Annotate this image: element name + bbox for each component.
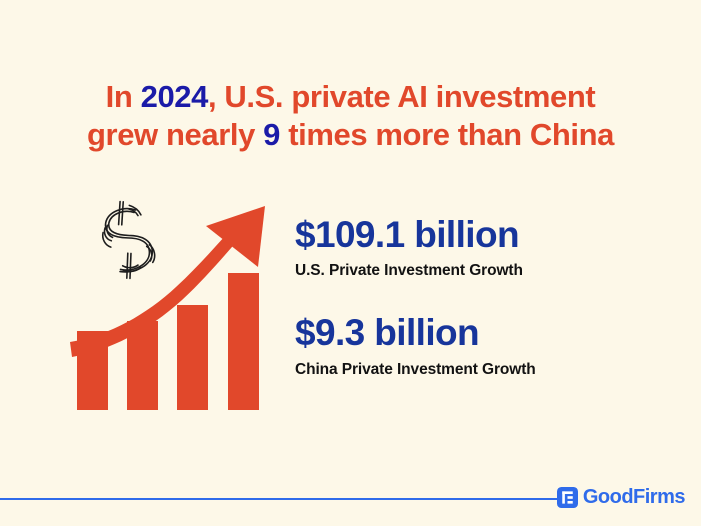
footer-divider bbox=[0, 498, 563, 500]
stat-block-us: $109.1 billion U.S. Private Investment G… bbox=[295, 214, 675, 280]
bar-1 bbox=[77, 331, 108, 410]
growth-graphic bbox=[60, 195, 290, 425]
stat-block-china: $9.3 billion China Private Investment Gr… bbox=[295, 312, 675, 378]
headline-line-1-post: , U.S. private AI investment bbox=[208, 79, 595, 114]
goodfirms-logo-text: GoodFirms bbox=[583, 486, 685, 509]
stat-value-china: $9.3 billion bbox=[295, 312, 675, 353]
bar-4 bbox=[228, 273, 259, 410]
bar-3 bbox=[177, 305, 208, 410]
stat-caption-china: China Private Investment Growth bbox=[295, 361, 675, 379]
headline-line-1: In 2024, U.S. private AI investment bbox=[0, 78, 701, 116]
stats-list: $109.1 billion U.S. Private Investment G… bbox=[295, 214, 675, 403]
infographic-canvas: In 2024, U.S. private AI investment grew… bbox=[0, 0, 701, 526]
stat-value-us: $109.1 billion bbox=[295, 214, 675, 255]
bar-2 bbox=[127, 321, 158, 410]
footer: GoodFirms bbox=[0, 460, 701, 526]
headline-line-2: grew nearly 9 times more than China bbox=[0, 116, 701, 154]
headline-year-accent: 2024 bbox=[141, 79, 208, 114]
headline-line-1-pre: In bbox=[106, 79, 141, 114]
goodfirms-logo: GoodFirms bbox=[557, 486, 685, 509]
headline: In 2024, U.S. private AI investment grew… bbox=[0, 78, 701, 154]
headline-multiple-accent: 9 bbox=[263, 117, 280, 152]
goodfirms-mark-icon bbox=[557, 487, 578, 508]
dollar-sign-sketch-icon bbox=[95, 196, 159, 282]
headline-line-2-pre: grew nearly bbox=[87, 117, 263, 152]
headline-line-2-post: times more than China bbox=[280, 117, 614, 152]
stat-caption-us: U.S. Private Investment Growth bbox=[295, 262, 675, 280]
